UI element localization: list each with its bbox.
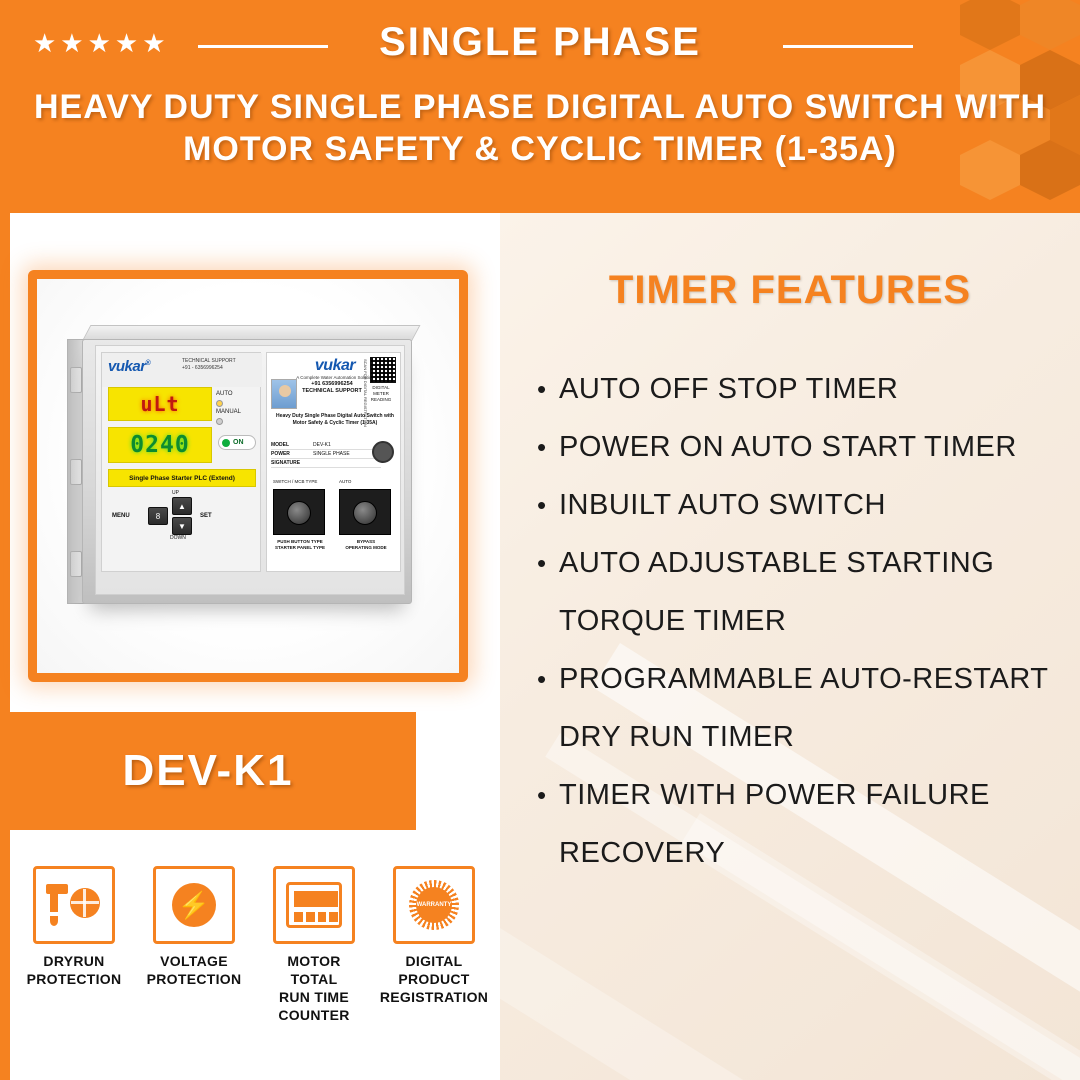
display-top: uLt (108, 387, 212, 421)
bypass-caption: BYPASS OPERATING MODE (335, 539, 397, 551)
features-list: • AUTO OFF STOP TIMER • POWER ON AUTO ST… (537, 360, 1067, 882)
warranty-badge-icon: WARRANTY (406, 879, 462, 931)
knob-icon (353, 501, 377, 525)
down-key[interactable]: ▼ (172, 517, 192, 535)
bullet-icon: • (537, 534, 559, 592)
feature-icon-registration: WARRANTY DIGITAL PRODUCT REGISTRATION (378, 866, 490, 1066)
tap-globe-icon (46, 880, 102, 930)
table-row: MODELDEV-K1 (271, 441, 381, 450)
product-strip-text: Single Phase Starter PLC (Extend) (129, 475, 235, 482)
header-subtitle: HEAVY DUTY SINGLE PHASE DIGITAL AUTO SWI… (0, 86, 1080, 170)
switch-type-label: SWITCH / MCB TYPE (273, 479, 317, 484)
spec-brand: vukar (315, 357, 355, 374)
selector-manual-label: MANUAL (216, 409, 241, 415)
on-label: ON (233, 439, 244, 446)
feature-icon-runtime: MOTOR TOTAL RUN TIME COUNTER (258, 866, 370, 1066)
bullet-icon: • (537, 766, 559, 824)
auto-mode-label: AUTO (339, 479, 351, 484)
header-banner: ★★★★★ SINGLE PHASE HEAVY DUTY SINGLE PHA… (0, 0, 1080, 213)
header-title: SINGLE PHASE (0, 20, 1080, 65)
spec-key: POWER (271, 451, 313, 457)
list-item: • POWER ON AUTO START TIMER (537, 418, 1067, 476)
spec-label: vukar A Complete Water Automation Soluti… (266, 352, 401, 572)
set-key-label: SET (200, 513, 212, 519)
brand-name: vukar (108, 358, 146, 375)
push-button-switch[interactable] (273, 489, 325, 535)
support-person-photo (271, 379, 297, 409)
selector-auto-label: AUTO (216, 391, 233, 397)
spec-description: Heavy Duty Single Phase Digital Auto Swi… (271, 413, 399, 427)
list-item: • PROGRAMMABLE AUTO-RESTART DRY RUN TIME… (537, 650, 1067, 766)
counter-icon (286, 882, 342, 928)
feature-icon-caption: VOLTAGE PROTECTION (138, 952, 250, 988)
spec-value: DEV-K1 (313, 442, 331, 448)
menu-key[interactable]: 8 (148, 507, 168, 525)
brand-logo: vukar® (108, 358, 150, 375)
feature-icons-row: DRYRUN PROTECTION ⚡ VOLTAGE PROTECTION M… (18, 866, 498, 1066)
left-accent-bar (0, 213, 10, 1080)
features-title: TIMER FEATURES (500, 268, 1080, 313)
push-button-caption: PUSH BUTTON TYPE STARTER PANEL TYPE (269, 539, 331, 551)
product-image-frame: vukar® TECHNICAL SUPPORT +91 - 635699625… (28, 270, 468, 682)
seal-stamp-icon (372, 441, 394, 463)
table-row: SIGNATURE (271, 459, 381, 468)
bullet-icon: • (537, 418, 559, 476)
product-strip-label: Single Phase Starter PLC (Extend) (108, 469, 256, 487)
spec-table: MODELDEV-K1 POWERSINGLE PHASE SIGNATURE (271, 441, 381, 468)
hinge-icon (70, 367, 82, 393)
list-item: • AUTO ADJUSTABLE STARTING TORQUE TIMER (537, 534, 1067, 650)
technical-support-text: TECHNICAL SUPPORT +91 - 6356996254 (182, 358, 236, 372)
display-bottom: 0240 (108, 427, 212, 463)
product-image: vukar® TECHNICAL SUPPORT +91 - 635699625… (37, 279, 459, 673)
qr-code-icon (370, 357, 396, 383)
support-phone: +91 6356996254 TECHNICAL SUPPORT (301, 381, 363, 395)
auto-led-icon (216, 400, 223, 407)
display-bottom-value: 0240 (130, 432, 189, 458)
list-item: • INBUILT AUTO SWITCH (537, 476, 1067, 534)
icon-box: WARRANTY (393, 866, 475, 944)
controller-module: vukar® TECHNICAL SUPPORT +91 - 635699625… (101, 352, 261, 572)
panel-face: vukar® TECHNICAL SUPPORT +91 - 635699625… (95, 345, 405, 595)
feature-text: AUTO ADJUSTABLE STARTING TORQUE TIMER (559, 534, 1067, 650)
list-item: • TIMER WITH POWER FAILURE RECOVERY (537, 766, 1067, 882)
display-top-value: uLt (140, 392, 179, 416)
warranty-badge-text: WARRANTY (416, 887, 452, 923)
feature-text: AUTO OFF STOP TIMER (559, 360, 1067, 418)
icon-box (273, 866, 355, 944)
model-name: DEV-K1 (123, 746, 294, 796)
spec-key: MODEL (271, 442, 313, 448)
feature-icon-dryrun: DRYRUN PROTECTION (18, 866, 130, 1066)
list-item: • AUTO OFF STOP TIMER (537, 360, 1067, 418)
up-key-label: UP (172, 490, 179, 496)
brand-registered-mark: ® (146, 360, 151, 367)
icon-box: ⚡ (153, 866, 235, 944)
up-key[interactable]: ▲ (172, 497, 192, 515)
manual-led-icon (216, 418, 223, 425)
model-banner: DEV-K1 (0, 712, 416, 830)
menu-key-label: MENU (112, 513, 130, 519)
knob-icon (287, 501, 311, 525)
bypass-switch[interactable] (339, 489, 391, 535)
bullet-icon: • (537, 360, 559, 418)
keypad[interactable]: MENU UP DOWN SET 8 ▲ ▼ (108, 495, 256, 541)
feature-icon-voltage: ⚡ VOLTAGE PROTECTION (138, 866, 250, 1066)
table-row: POWERSINGLE PHASE (271, 450, 381, 459)
meter-note: DIGITAL METER READING (366, 385, 396, 403)
feature-text: PROGRAMMABLE AUTO-RESTART DRY RUN TIMER (559, 650, 1067, 766)
bullet-icon: • (537, 650, 559, 708)
controller-brand-band: vukar® TECHNICAL SUPPORT +91 - 635699625… (102, 353, 262, 387)
spec-value: SINGLE PHASE (313, 451, 350, 457)
on-status-badge: ON (218, 435, 256, 450)
feature-icon-caption: DRYRUN PROTECTION (18, 952, 130, 988)
hinge-icon (70, 459, 82, 485)
feature-text: INBUILT AUTO SWITCH (559, 476, 1067, 534)
bullet-icon: • (537, 476, 559, 534)
feature-text: POWER ON AUTO START TIMER (559, 418, 1067, 476)
feature-icon-caption: MOTOR TOTAL RUN TIME COUNTER (258, 952, 370, 1024)
bolt-icon: ⚡ (172, 883, 216, 927)
feature-icon-caption: DIGITAL PRODUCT REGISTRATION (378, 952, 490, 1006)
down-key-label: DOWN (170, 535, 186, 541)
hinge-icon (70, 551, 82, 577)
icon-box (33, 866, 115, 944)
spec-key: SIGNATURE (271, 460, 313, 466)
on-led-icon (222, 439, 230, 447)
feature-text: TIMER WITH POWER FAILURE RECOVERY (559, 766, 1067, 882)
